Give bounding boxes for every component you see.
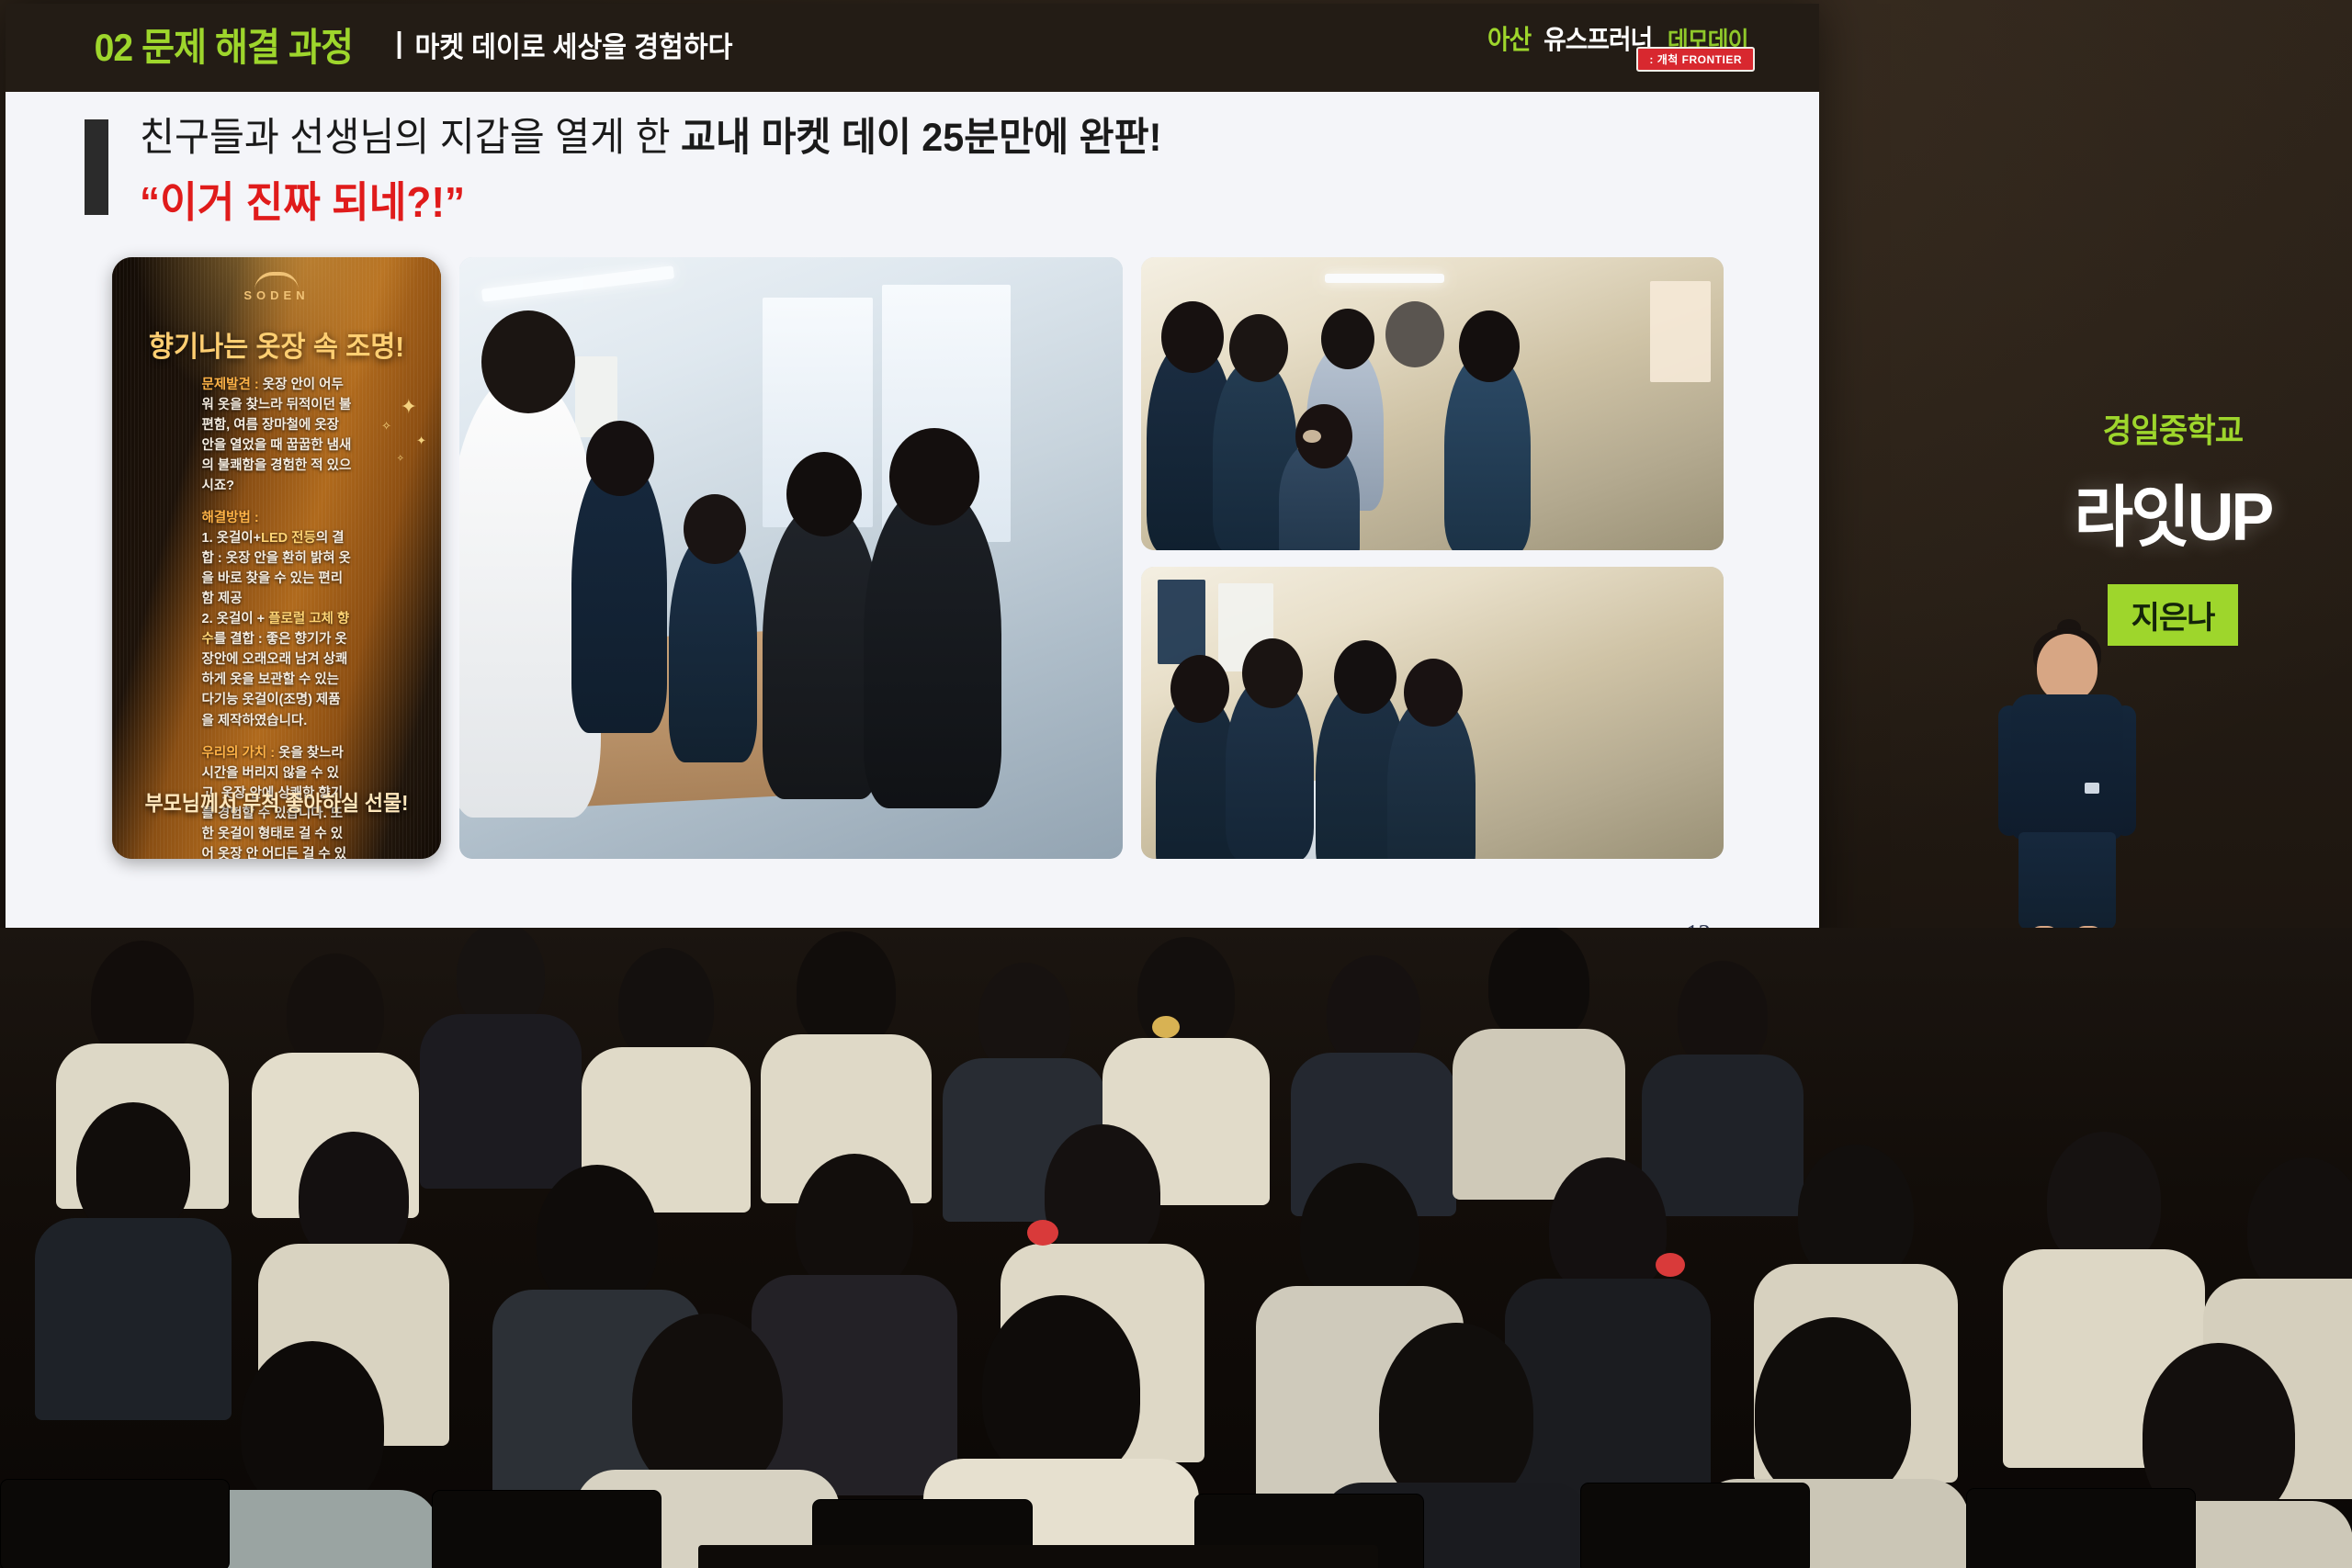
hair-tie-icon [1027, 1220, 1058, 1246]
slide-body: 친구들과 선생님의 지갑을 열게 한 교내 마켓 데이 25분만에 완판! “이… [6, 92, 1819, 994]
product-poster-card: SODEN 향기나는 옷장 속 조명! ✦ ✧ ✦ ✧ 문제발견 : 옷장 안이… [112, 257, 441, 859]
event-logo-part1: 아산 [1487, 18, 1531, 57]
wall-poster [1158, 580, 1205, 664]
sparkle-icon: ✦ [416, 434, 426, 448]
person-head [632, 1314, 783, 1494]
poster-brand: SODEN [112, 288, 441, 302]
student-figure [571, 457, 667, 733]
poster-solution-1: 1. 옷걸이+LED 전등의 결합 : 옷장 안을 환히 밝혀 옷을 바로 찾을… [202, 528, 352, 609]
student-head [481, 310, 575, 413]
photo-collage [459, 257, 1724, 859]
sparkle-icon: ✦ [401, 395, 417, 419]
team-name: 라잇UP [1996, 463, 2349, 560]
student-head [1404, 659, 1463, 727]
person-torso [420, 1014, 582, 1189]
photo-market-day-visitors [1141, 257, 1724, 550]
student-figure [864, 487, 1001, 808]
sparkle-icon: ✧ [397, 454, 404, 464]
student-head [1170, 655, 1229, 723]
audience-person [597, 948, 735, 1159]
projection-screen: 02 문제 해결 과정 마켓 데이로 세상을 경험하다 아산 유스프러너 데모데… [6, 4, 1819, 994]
slide-content-grid: SODEN 향기나는 옷장 속 조명! ✦ ✧ ✦ ✧ 문제발견 : 옷장 안이… [112, 257, 1724, 859]
slide-header-bar: 02 문제 해결 과정 마켓 데이로 세상을 경험하다 아산 유스프러너 데모데… [6, 4, 1819, 92]
auditorium-chair [1580, 1483, 1810, 1568]
student-head [786, 452, 862, 536]
photo-market-day-selling [1141, 567, 1724, 860]
person-torso [35, 1218, 232, 1420]
hair-tie-icon [1152, 1016, 1180, 1038]
ceiling-light-icon [1325, 274, 1444, 283]
student-head [586, 421, 654, 496]
poster-solution-label: 해결방법 : [202, 508, 352, 528]
visitor-head [1229, 314, 1288, 382]
person-head [2047, 1132, 2161, 1268]
person-head [76, 1102, 190, 1236]
school-name: 경일중학교 [1998, 404, 2347, 452]
uniform-logo-icon [2085, 783, 2099, 794]
audience-person [211, 1341, 413, 1568]
auditorium-chair [1966, 1488, 2196, 1568]
person-head [299, 1132, 409, 1262]
audience-person [1117, 937, 1255, 1154]
poster-title: 향기나는 옷장 속 조명! [120, 323, 433, 365]
person-head [1045, 1124, 1160, 1262]
person-head [618, 948, 714, 1062]
person-head [241, 1341, 384, 1512]
slide-title-line1-normal: 친구들과 선생님의 지갑을 열게 한 [140, 116, 681, 160]
event-logo-ribbon: : 개척 FRONTIER [1636, 47, 1755, 72]
poster-value-label: 우리의 가치 : [202, 746, 276, 761]
hair-tie-icon [1656, 1253, 1685, 1277]
poster-problem: 문제발견 : 옷장 안이 어두워 옷을 찾느라 뒤적이던 불편함, 여름 장마철… [202, 375, 352, 496]
student-head [684, 494, 746, 564]
person-head [796, 1154, 913, 1293]
audience-person [1654, 961, 1792, 1163]
poster-solution-2-head: 2. 옷걸이 + [202, 612, 269, 626]
slide-title-block: 친구들과 선생님의 지갑을 열게 한 교내 마켓 데이 25분만에 완판! “이… [85, 114, 1204, 230]
student-head [1242, 638, 1303, 708]
person-head [537, 1165, 658, 1308]
event-logo: 아산 유스프러너 데모데이 : 개척 FRONTIER [1486, 18, 1751, 57]
person-head [1379, 1323, 1533, 1506]
person-head [982, 1295, 1140, 1483]
person-head [1137, 937, 1235, 1053]
student-head [889, 428, 979, 525]
slide-title-line2: “이거 진짜 되네?!” [140, 169, 1161, 230]
presenter-shorts [2018, 832, 2116, 930]
auditorium-stage: 02 문제 해결 과정 마켓 데이로 세상을 경험하다 아산 유스프러너 데모데… [0, 0, 2352, 1568]
person-head [978, 963, 1070, 1073]
team-identity-panel: 경일중학교 라잇UP 지은나 [1989, 404, 2352, 646]
title-tick-icon [85, 119, 108, 215]
poster-solution-1-highlight: LED 전등 [261, 531, 316, 546]
person-head [1488, 928, 1589, 1043]
photo-market-day-making [459, 257, 1123, 859]
presenter-head [2037, 634, 2098, 702]
poster-footer: 부모님께서 무척 좋아하실 선물! [120, 785, 433, 817]
slide-title-line1: 친구들과 선생님의 지갑을 열게 한 교내 마켓 데이 25분만에 완판! [140, 114, 1161, 164]
auditorium-chair [432, 1490, 661, 1568]
student-head [1459, 310, 1520, 382]
visitor-head [1161, 301, 1224, 373]
teacher-head [1321, 309, 1374, 369]
student-head [1334, 640, 1396, 714]
presenter-torso [2011, 694, 2123, 840]
wall-poster [1650, 281, 1711, 382]
poster-solution-2: 2. 옷걸이 + 플로럴 고체 향수를 결합 : 좋은 향기가 옷장안에 오래오… [202, 609, 352, 730]
audience-person [1305, 955, 1442, 1163]
sparkle-icon: ✧ [381, 419, 391, 434]
section-subtitle-group: 마켓 데이로 세상을 경험하다 [397, 24, 732, 65]
person-head [1300, 1163, 1419, 1304]
poster-solution-2-text: 를 결합 : 좋은 향기가 옷장안에 오래오래 남겨 상쾌하게 옷을 보관할 수… [202, 632, 348, 728]
slide-header-content: 02 문제 해결 과정 마켓 데이로 세상을 경험하다 [85, 17, 743, 73]
audience-person [432, 928, 570, 1143]
person-head [1678, 961, 1768, 1069]
person-head [1549, 1157, 1667, 1297]
section-title: 문제 해결 과정 [141, 26, 353, 69]
audience-person [777, 931, 915, 1152]
person-head [1798, 1145, 1914, 1282]
subtitle-divider-icon [397, 31, 401, 59]
teacher-head [1385, 301, 1444, 367]
person-head [797, 931, 896, 1049]
poster-solution-1-head: 1. 옷걸이+ [202, 531, 262, 546]
poster-solution: 해결방법 : 1. 옷걸이+LED 전등의 결합 : 옷장 안을 환히 밝혀 옷… [202, 508, 352, 730]
photo-column [1141, 257, 1724, 859]
poster-problem-text: 옷장 안이 어두워 옷을 찾느라 뒤적이던 불편함, 여름 장마철에 옷장 안을… [202, 378, 352, 493]
poster-problem-label: 문제발견 : [202, 378, 259, 392]
person-head [1755, 1317, 1911, 1503]
audience-area [0, 928, 2352, 1568]
student-figure [1444, 353, 1531, 550]
slide-title-line1-bold: 교내 마켓 데이 25분만에 완판! [681, 116, 1161, 160]
student-figure [669, 533, 757, 762]
section-number: 02 [95, 26, 133, 69]
auditorium-chair [0, 1479, 230, 1568]
audience-table [698, 1545, 1378, 1568]
section-number-and-title: 02 문제 해결 과정 [95, 17, 353, 73]
section-subtitle: 마켓 데이로 세상을 경험하다 [414, 24, 732, 65]
person-head [2247, 1157, 2352, 1297]
audience-person [55, 1102, 211, 1359]
person-head [1327, 955, 1420, 1067]
audience-person [1470, 928, 1608, 1148]
